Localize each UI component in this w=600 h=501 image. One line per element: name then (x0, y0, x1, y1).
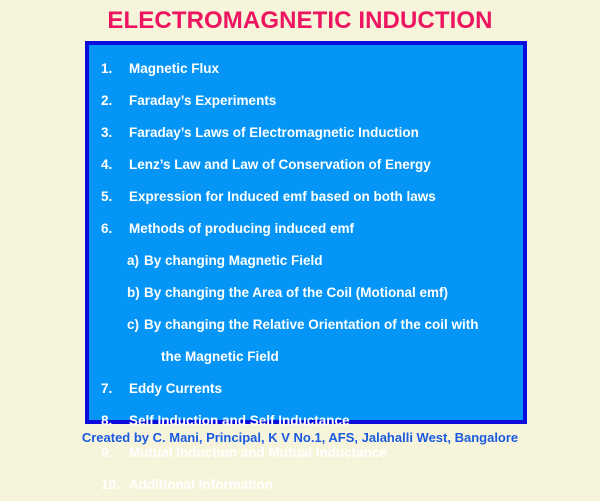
list-item-number: c) (127, 309, 144, 341)
list-item-label: Methods of producing induced emf (129, 213, 354, 245)
table-of-contents-list: 1.Magnetic Flux2.Faraday’s Experiments3.… (89, 45, 523, 420)
list-item: c)By changing the Relative Orientation o… (89, 309, 523, 341)
list-item-label: Additional Information (129, 469, 273, 501)
list-item-number: a) (127, 245, 144, 277)
slide-title: ELECTROMAGNETIC INDUCTION (0, 7, 600, 35)
footer-credit: Created by C. Mani, Principal, K V No.1,… (0, 429, 600, 447)
list-item: 10.Additional Information (89, 469, 523, 501)
list-item-number: 5. (101, 181, 129, 213)
list-item: 2.Faraday’s Experiments (89, 85, 523, 117)
list-item-label: By changing the Relative Orientation of … (144, 309, 479, 341)
list-item-label: Eddy Currents (129, 373, 222, 405)
list-item: the Magnetic Field (89, 341, 523, 373)
list-item-number: 10. (101, 469, 129, 501)
list-item: 3.Faraday’s Laws of Electromagnetic Indu… (89, 117, 523, 149)
list-item: 6.Methods of producing induced emf (89, 213, 523, 245)
list-item: 5.Expression for Induced emf based on bo… (89, 181, 523, 213)
list-item-label: Magnetic Flux (129, 53, 219, 85)
list-item-label: Lenz’s Law and Law of Conservation of En… (129, 149, 431, 181)
list-item-number: 2. (101, 85, 129, 117)
list-item-number: 6. (101, 213, 129, 245)
list-item: 4.Lenz’s Law and Law of Conservation of … (89, 149, 523, 181)
presentation-slide: ELECTROMAGNETIC INDUCTION 1.Magnetic Flu… (0, 0, 600, 450)
list-item-number: 7. (101, 373, 129, 405)
list-item-number: 3. (101, 117, 129, 149)
list-item-label: By changing the Area of the Coil (Motion… (144, 277, 448, 309)
list-item: 7.Eddy Currents (89, 373, 523, 405)
list-item: 1.Magnetic Flux (89, 53, 523, 85)
list-item-label: Faraday’s Laws of Electromagnetic Induct… (129, 117, 419, 149)
list-item-number: 4. (101, 149, 129, 181)
list-item: a)By changing Magnetic Field (89, 245, 523, 277)
list-item-label: Expression for Induced emf based on both… (129, 181, 436, 213)
contents-panel: 1.Magnetic Flux2.Faraday’s Experiments3.… (85, 41, 527, 424)
list-item-number: 1. (101, 53, 129, 85)
list-item-label: the Magnetic Field (161, 341, 279, 373)
list-item: b)By changing the Area of the Coil (Moti… (89, 277, 523, 309)
list-item-label: Faraday’s Experiments (129, 85, 276, 117)
list-item-label: By changing Magnetic Field (144, 245, 323, 277)
list-item-number: b) (127, 277, 144, 309)
